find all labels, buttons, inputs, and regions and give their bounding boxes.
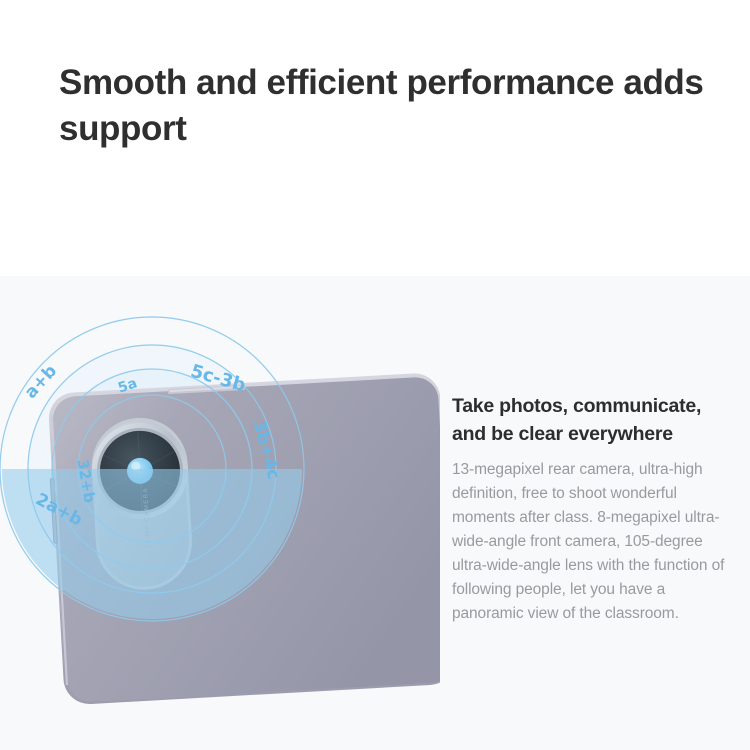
product-visual: 13 MP CAMERA a+b5a5c-3b3b+4c32+b2a+b [0, 276, 440, 750]
feature-page: Smooth and efficient performance adds su… [0, 0, 750, 750]
feature-title: Take photos, communicate, and be clear e… [452, 393, 738, 448]
tablet-illustration: 13 MP CAMERA [0, 276, 440, 750]
page-headline: Smooth and efficient performance adds su… [59, 60, 719, 152]
hero-band: Smooth and efficient performance adds su… [0, 0, 750, 276]
feature-copy: Take photos, communicate, and be clear e… [452, 393, 738, 626]
feature-description: 13-megapixel rear camera, ultra-high def… [452, 458, 738, 626]
